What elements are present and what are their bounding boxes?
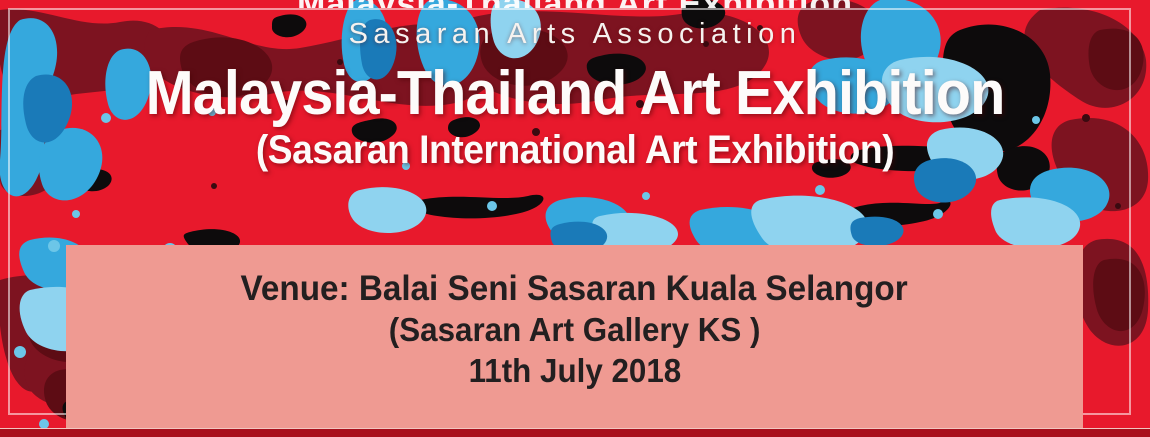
- organization-name: Sasaran Arts Association: [0, 20, 1150, 49]
- banner-heading-group: Malaysia-Thailand Art Exhibition Sasaran…: [0, 0, 1150, 172]
- bottom-accent-band: [0, 428, 1150, 437]
- event-details-panel: Venue: Balai Seni Sasaran Kuala Selangor…: [66, 245, 1083, 428]
- page-subtitle: (Sasaran International Art Exhibition): [40, 128, 1110, 172]
- gallery-line: (Sasaran Art Gallery KS ): [389, 310, 761, 351]
- page-title: Malaysia-Thailand Art Exhibition: [40, 61, 1110, 126]
- cut-off-top-text: Malaysia-Thailand Art Exhibition: [0, 0, 1150, 8]
- date-line: 11th July 2018: [468, 351, 681, 392]
- exhibition-banner: Malaysia-Thailand Art Exhibition Sasaran…: [0, 0, 1150, 437]
- venue-line: Venue: Balai Seni Sasaran Kuala Selangor: [241, 267, 908, 310]
